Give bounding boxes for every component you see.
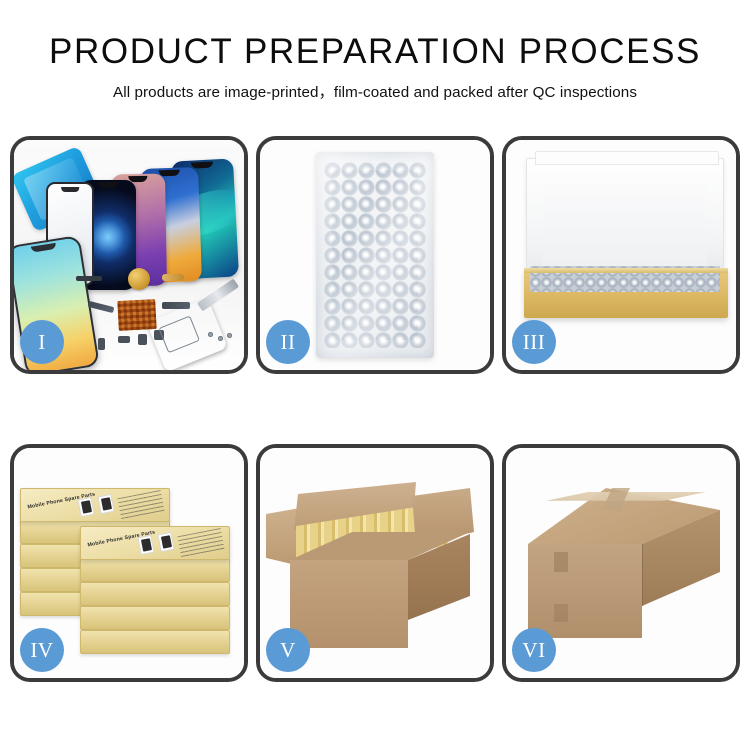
carton-seam-icon — [554, 604, 568, 622]
box-artwork-icon — [157, 532, 174, 552]
notch-icon — [191, 161, 214, 168]
step-panel-3: III — [502, 136, 740, 374]
part-bar-icon — [76, 276, 102, 281]
step-panel-4: Mobile Phone Spare Parts Mobile Phone Sp… — [10, 444, 248, 682]
step-panel-6: VI — [502, 444, 740, 682]
part-gold-flex-icon — [162, 274, 184, 281]
screws-icon — [208, 332, 234, 348]
stacked-box — [80, 558, 230, 582]
box-artwork-icon — [137, 535, 154, 555]
box-lip-icon — [524, 268, 728, 273]
step-badge-4: IV — [20, 628, 64, 672]
part-small-icon — [138, 334, 147, 345]
white-box-lid-icon — [526, 158, 724, 276]
box-spec-lines-icon — [177, 528, 224, 558]
step-panel-5: V — [256, 444, 494, 682]
box-spec-lines-icon — [117, 490, 164, 520]
step-panel-1: I — [10, 136, 248, 374]
step-panel-2: II — [256, 136, 494, 374]
bubble-wrap-package-icon — [316, 152, 434, 358]
step-badge-5: V — [266, 628, 310, 672]
carton-front-face-icon — [290, 560, 408, 648]
carton-seam-icon — [554, 552, 568, 572]
step-badge-3: III — [512, 320, 556, 364]
page-subtitle: All products are image-printed，film-coat… — [0, 80, 750, 102]
page-title: PRODUCT PREPARATION PROCESS — [0, 34, 750, 71]
stacked-box-top: Mobile Phone Spare Parts — [20, 488, 170, 522]
part-small-icon — [118, 336, 130, 343]
stacked-box-top: Mobile Phone Spare Parts — [80, 526, 230, 560]
stacked-box — [80, 630, 230, 654]
notch-icon — [31, 243, 57, 253]
sealed-carton-front-icon — [528, 544, 642, 638]
step-badge-1: I — [20, 320, 64, 364]
speaker-coil-icon — [128, 268, 150, 290]
stacked-box — [80, 582, 230, 606]
carton-flap-left-icon — [266, 508, 300, 566]
carton-edge-icon — [642, 544, 643, 606]
step-badge-6: VI — [512, 628, 556, 672]
notch-icon — [61, 187, 79, 192]
step-badge-2: II — [266, 320, 310, 364]
plastic-sheen-icon — [316, 152, 434, 358]
part-small-icon — [98, 338, 105, 350]
box-artwork-icon — [97, 494, 114, 514]
notch-icon — [159, 170, 180, 177]
box-artwork-icon — [77, 497, 94, 517]
header: PRODUCT PREPARATION PROCESS All products… — [0, 0, 750, 102]
product-preparation-process-page: PRODUCT PREPARATION PROCESS All products… — [0, 0, 750, 750]
stacked-box — [80, 606, 230, 630]
process-steps-grid: I II III — [10, 136, 740, 682]
notch-icon — [98, 182, 118, 188]
